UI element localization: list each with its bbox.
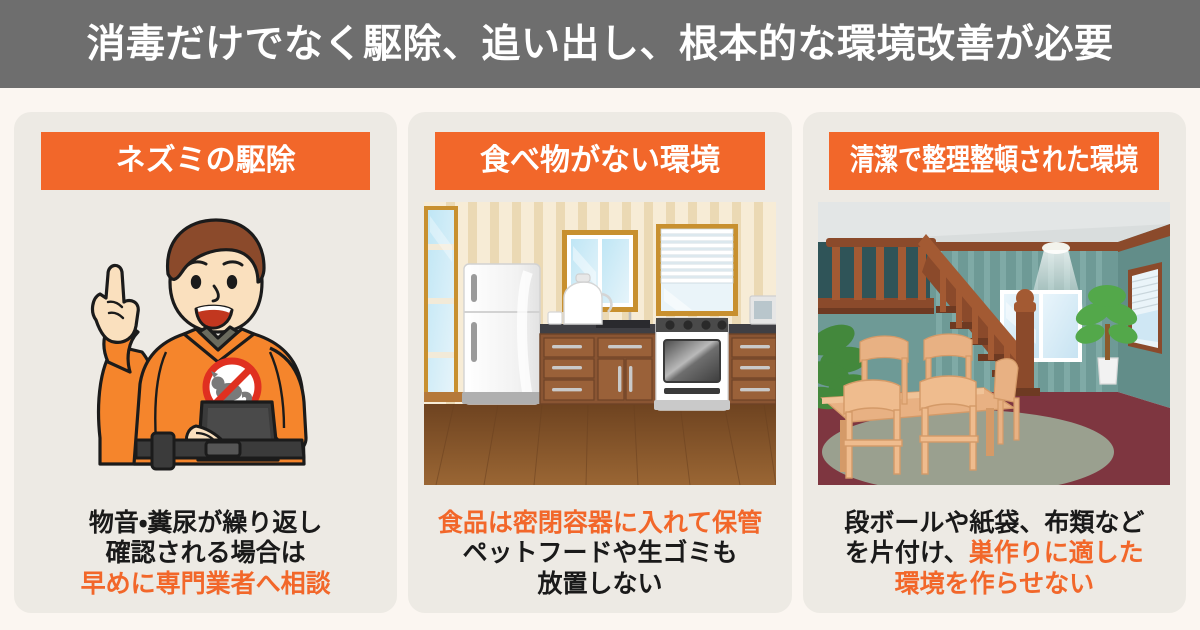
illustration-pest-control-worker xyxy=(14,202,397,485)
caption-1-line-2: 確認される場合は xyxy=(24,538,387,569)
card-header-3-label: 清潔で整理整頓された環境 xyxy=(850,146,1138,176)
card-header-2: 食べ物がない環境 xyxy=(435,132,765,190)
card-header-3: 清潔で整理整頓された環境 xyxy=(829,132,1159,190)
card-rodent-extermination: ネズミの駆除 xyxy=(14,112,397,613)
caption-3-line-2-highlight: 巣作りに適した xyxy=(969,539,1144,567)
blinds-window xyxy=(656,224,738,316)
card-caption-1: 物音・糞尿が繰り返し 確認される場合は 早めに専門業者へ相談 xyxy=(14,508,397,600)
dining-room-illustration-svg xyxy=(818,202,1170,485)
cards-row: ネズミの駆除 xyxy=(0,88,1200,630)
illustration-clean-kitchen xyxy=(408,202,791,485)
microwave xyxy=(750,296,776,324)
kitchen-illustration-svg xyxy=(424,202,776,485)
caption-2-line-2: ペットフードや生ゴミも xyxy=(418,538,781,569)
card-header-2-label: 食べ物がない環境 xyxy=(480,146,720,176)
card-food-free-environment: 食べ物がない環境 xyxy=(408,112,791,613)
illustration-tidy-dining-room xyxy=(803,202,1186,485)
eye-left xyxy=(190,275,200,289)
caption-3-line-2-plain: を片付け、 xyxy=(845,539,969,567)
card-header-1: ネズミの駆除 xyxy=(41,132,371,190)
caption-1-line-1: 物音・糞尿が繰り返し xyxy=(24,508,387,539)
caption-3-line-3: 環境を作らせない xyxy=(813,569,1176,600)
refrigerator xyxy=(462,264,542,404)
page-title: 消毒だけでなく駆除、追い出し、根本的な環境改善が必要 xyxy=(86,25,1113,64)
card-caption-3: 段ボールや紙袋、布類など を片付け、巣作りに適した 環境を作らせない xyxy=(803,508,1186,600)
wood-floor xyxy=(424,404,776,485)
card-header-1-label: ネズミの駆除 xyxy=(116,146,296,176)
header-bar: 消毒だけでなく駆除、追い出し、根本的な環境改善が必要 xyxy=(0,0,1200,88)
caption-2-line-3: 放置しない xyxy=(418,569,781,600)
card-tidy-environment: 清潔で整理整頓された環境 xyxy=(803,112,1186,613)
caption-1-line-3: 早めに専門業者へ相談 xyxy=(24,569,387,600)
side-window xyxy=(424,206,464,402)
eye-right xyxy=(226,275,236,289)
caption-3-line-2: を片付け、巣作りに適した xyxy=(813,538,1176,569)
caption-2-line-1: 食品は密閉容器に入れて保管 xyxy=(418,508,781,539)
cup xyxy=(548,312,562,324)
caption-3-line-1: 段ボールや紙袋、布類など xyxy=(813,508,1176,539)
worker-illustration-svg xyxy=(56,202,356,485)
card-caption-2: 食品は密閉容器に入れて保管 ペットフードや生ゴミも 放置しない xyxy=(408,508,791,600)
oven-range xyxy=(654,318,730,410)
